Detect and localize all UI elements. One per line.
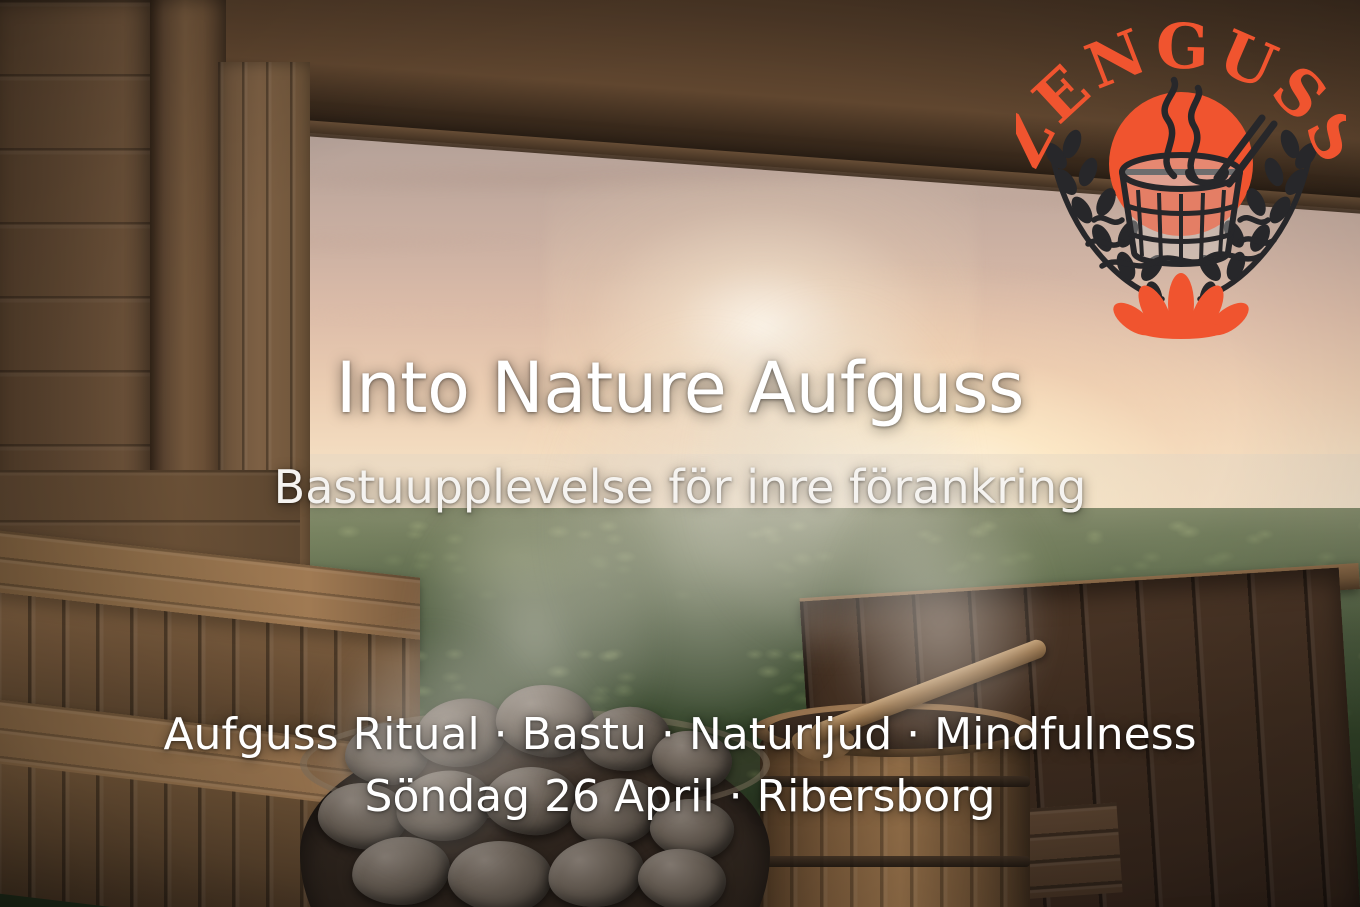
sauna-bucket bbox=[760, 737, 1030, 907]
poster-canvas: Into Nature Aufguss Bastuupplevelse för … bbox=[0, 0, 1360, 907]
logo-artwork: ZENGUSS bbox=[1016, 0, 1346, 344]
brand-logo: ZENGUSS bbox=[1016, 0, 1346, 344]
bucket-hoop-lower bbox=[760, 856, 1030, 867]
bucket-hoop-upper bbox=[760, 776, 1030, 787]
